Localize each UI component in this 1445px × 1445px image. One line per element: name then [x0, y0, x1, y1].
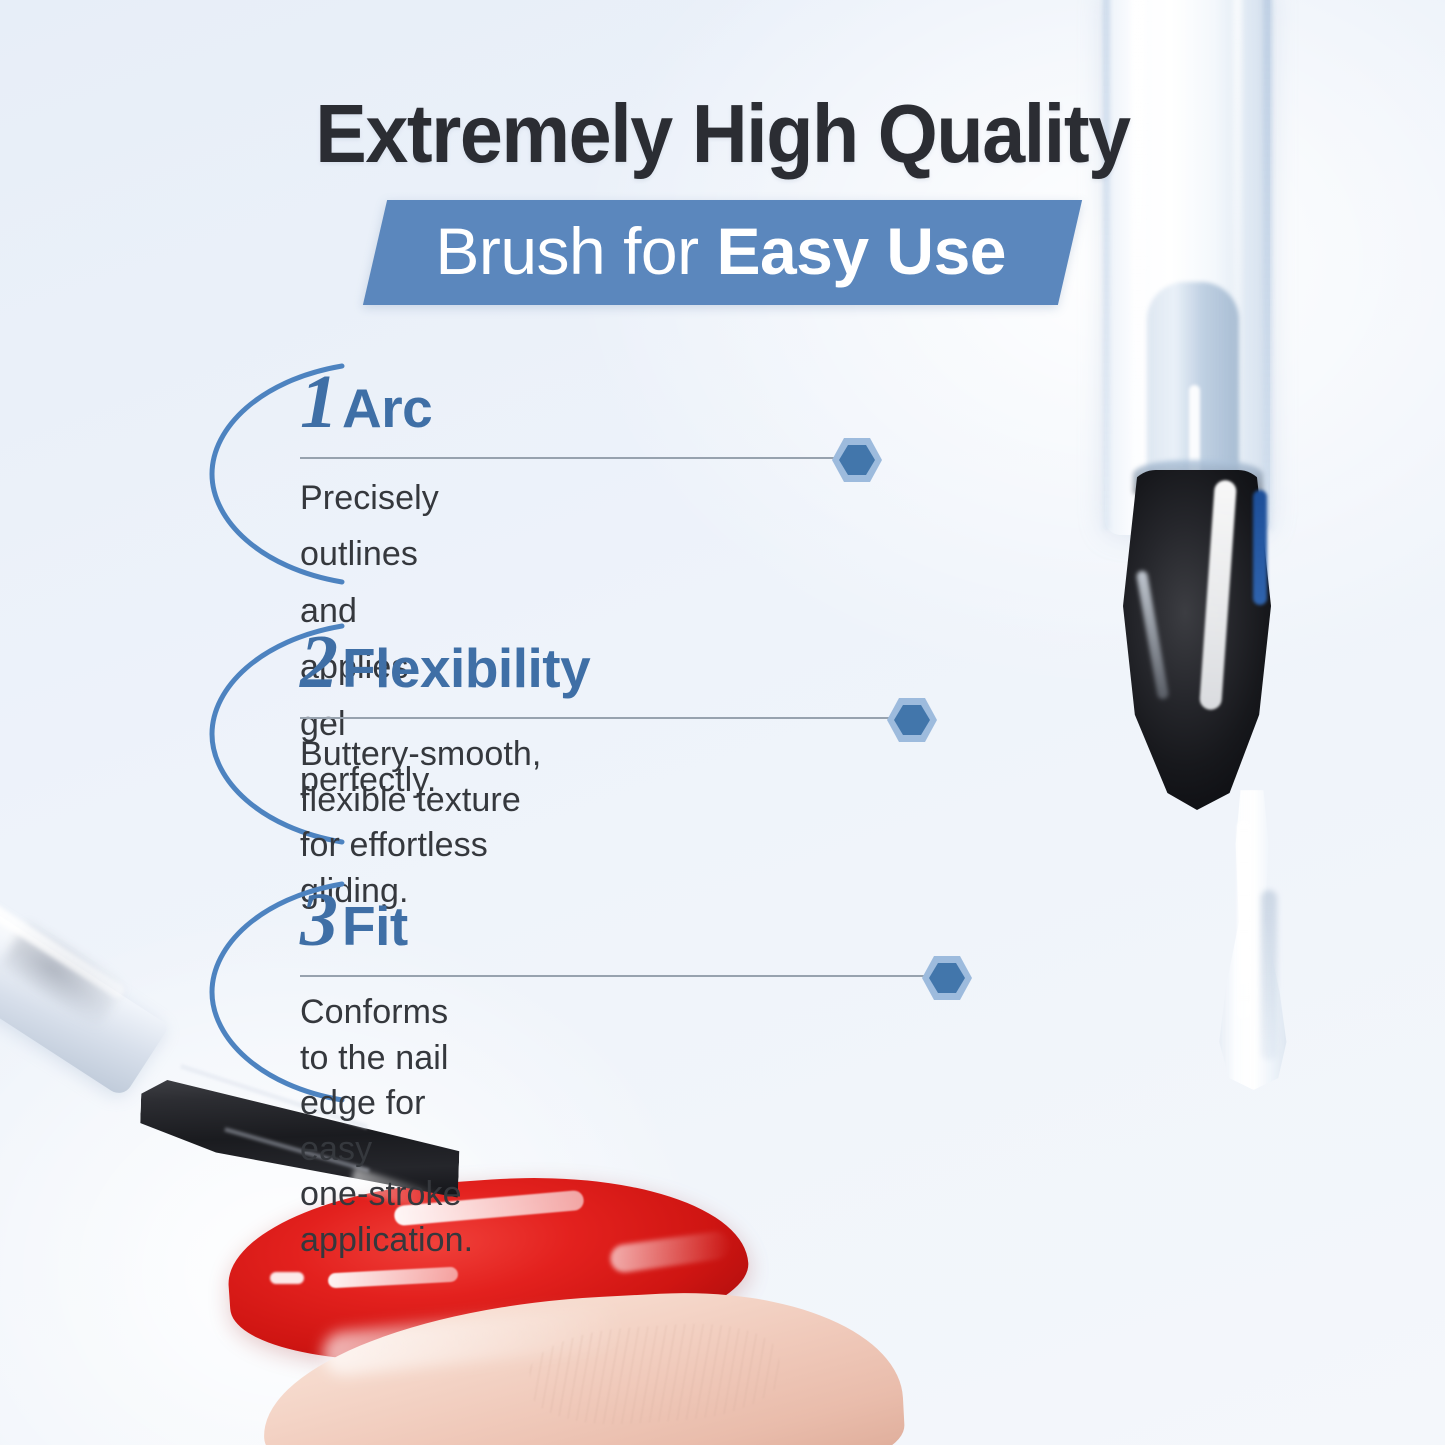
hexagon-marker-3 — [920, 954, 974, 1002]
subtitle-banner: Brush for Easy Use — [363, 200, 1082, 305]
page-title: Extremely High Quality — [51, 86, 1395, 182]
divider-line-3 — [300, 975, 930, 977]
feature-title-3: 3Fit — [300, 876, 473, 958]
feature-divider-1 — [300, 446, 439, 470]
subtitle-banner-wrap: Brush for Easy Use — [0, 200, 1445, 305]
feature-name-2: Flexibility — [342, 637, 590, 699]
hexagon-marker-2 — [885, 696, 939, 744]
nail-gloss-dot — [270, 1272, 304, 1284]
feature-name-1: Arc — [342, 377, 432, 439]
feature-title-1: 1Arc — [300, 358, 439, 440]
feature-number-1: 1 — [300, 360, 336, 444]
feature-divider-2 — [300, 706, 590, 730]
hexagon-marker-1 — [830, 436, 884, 484]
feature-divider-3 — [300, 964, 473, 988]
feature-number-2: 2 — [300, 620, 336, 704]
divider-line-2 — [300, 717, 895, 719]
gel-drip-highlight — [1237, 820, 1251, 1020]
brush-blue-reflection — [1253, 490, 1267, 605]
subtitle-prefix: Brush for — [436, 214, 717, 288]
subtitle-text: Brush for Easy Use — [436, 213, 1007, 289]
divider-line-1 — [300, 457, 840, 459]
gel-drip-shadow — [1261, 890, 1277, 1060]
feature-body-3: 3Fit Conforms to the nail edge for easy … — [300, 876, 473, 1263]
subtitle-emphasis: Easy Use — [717, 214, 1007, 288]
feature-body-2: 2Flexibility Buttery-smooth, flexible te… — [300, 618, 590, 914]
feature-description-3: Conforms to the nail edge for easy one-s… — [300, 990, 473, 1263]
feature-name-3: Fit — [342, 895, 408, 957]
feature-title-2: 2Flexibility — [300, 618, 590, 700]
feature-number-3: 3 — [300, 878, 336, 962]
